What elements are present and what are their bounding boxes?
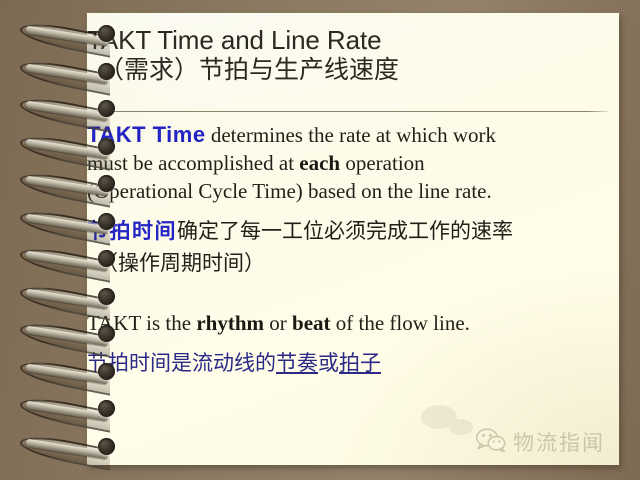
slide-title-block: TAKT Time and Line Rate （需求）节拍与生产线速度: [87, 25, 619, 87]
rhythm-bold: rhythm: [196, 311, 264, 335]
spacer-2: [87, 279, 615, 309]
paragraph3-b: or: [264, 311, 292, 335]
paragraph-chinese-definition: 节拍时间确定了每一工位必须完成工作的速率 （操作周期时间）: [87, 215, 615, 279]
paragraph3-a: TAKT is the: [87, 311, 196, 335]
paragraph1-line2-b: operation: [340, 151, 425, 175]
spacer-1: [87, 205, 615, 215]
slide-screenshot: TAKT Time and Line Rate （需求）节拍与生产线速度 TAK…: [0, 0, 640, 480]
paragraph4-b: 或: [318, 351, 339, 375]
paragraph2-line1: 节拍时间确定了每一工位必须完成工作的速率: [87, 215, 615, 247]
slide-body: TAKT Time determines the rate at which w…: [87, 121, 615, 379]
paragraph2-line2: （操作周期时间）: [87, 247, 615, 279]
page-subtitle-chinese: （需求）节拍与生产线速度: [87, 55, 619, 87]
paragraph-english-definition: TAKT Time determines the rate at which w…: [87, 121, 615, 205]
paizi-underlined: 拍子: [339, 351, 381, 375]
paragraph-chinese-rhythm: 节拍时间是流动线的节奏或拍子: [87, 347, 615, 379]
jiepai-shijian-highlight: 节拍时间: [87, 219, 177, 243]
spacer-3: [87, 337, 615, 347]
paragraph3-line1: TAKT is the rhythm or beat of the flow l…: [87, 309, 615, 337]
notepad-page: TAKT Time and Line Rate （需求）节拍与生产线速度 TAK…: [87, 13, 619, 465]
paragraph3-c: of the flow line.: [331, 311, 470, 335]
paragraph4-line1: 节拍时间是流动线的节奏或拍子: [87, 347, 615, 379]
jiezou-underlined: 节奏: [276, 351, 318, 375]
paragraph1-line2-a: must be accomplished at: [87, 151, 299, 175]
paragraph-english-rhythm: TAKT is the rhythm or beat of the flow l…: [87, 309, 615, 337]
takt-time-highlight: TAKT Time: [87, 122, 206, 147]
paragraph4-a: 节拍时间是流动线的: [87, 351, 276, 375]
each-bold: each: [299, 151, 340, 175]
beat-bold: beat: [292, 311, 331, 335]
paragraph1-line3: (Operational Cycle Time) based on the li…: [87, 177, 615, 205]
paragraph1-line2: must be accomplished at each operation: [87, 149, 615, 177]
paragraph2-line1-rest: 确定了每一工位必须完成工作的速率: [177, 219, 513, 243]
slide-content: TAKT Time and Line Rate （需求）节拍与生产线速度 TAK…: [87, 13, 619, 465]
paragraph1-line1-rest: determines the rate at which work: [206, 123, 496, 147]
paragraph1-line1: TAKT Time determines the rate at which w…: [87, 121, 615, 149]
title-divider: [83, 111, 609, 112]
page-title: TAKT Time and Line Rate: [87, 25, 619, 55]
